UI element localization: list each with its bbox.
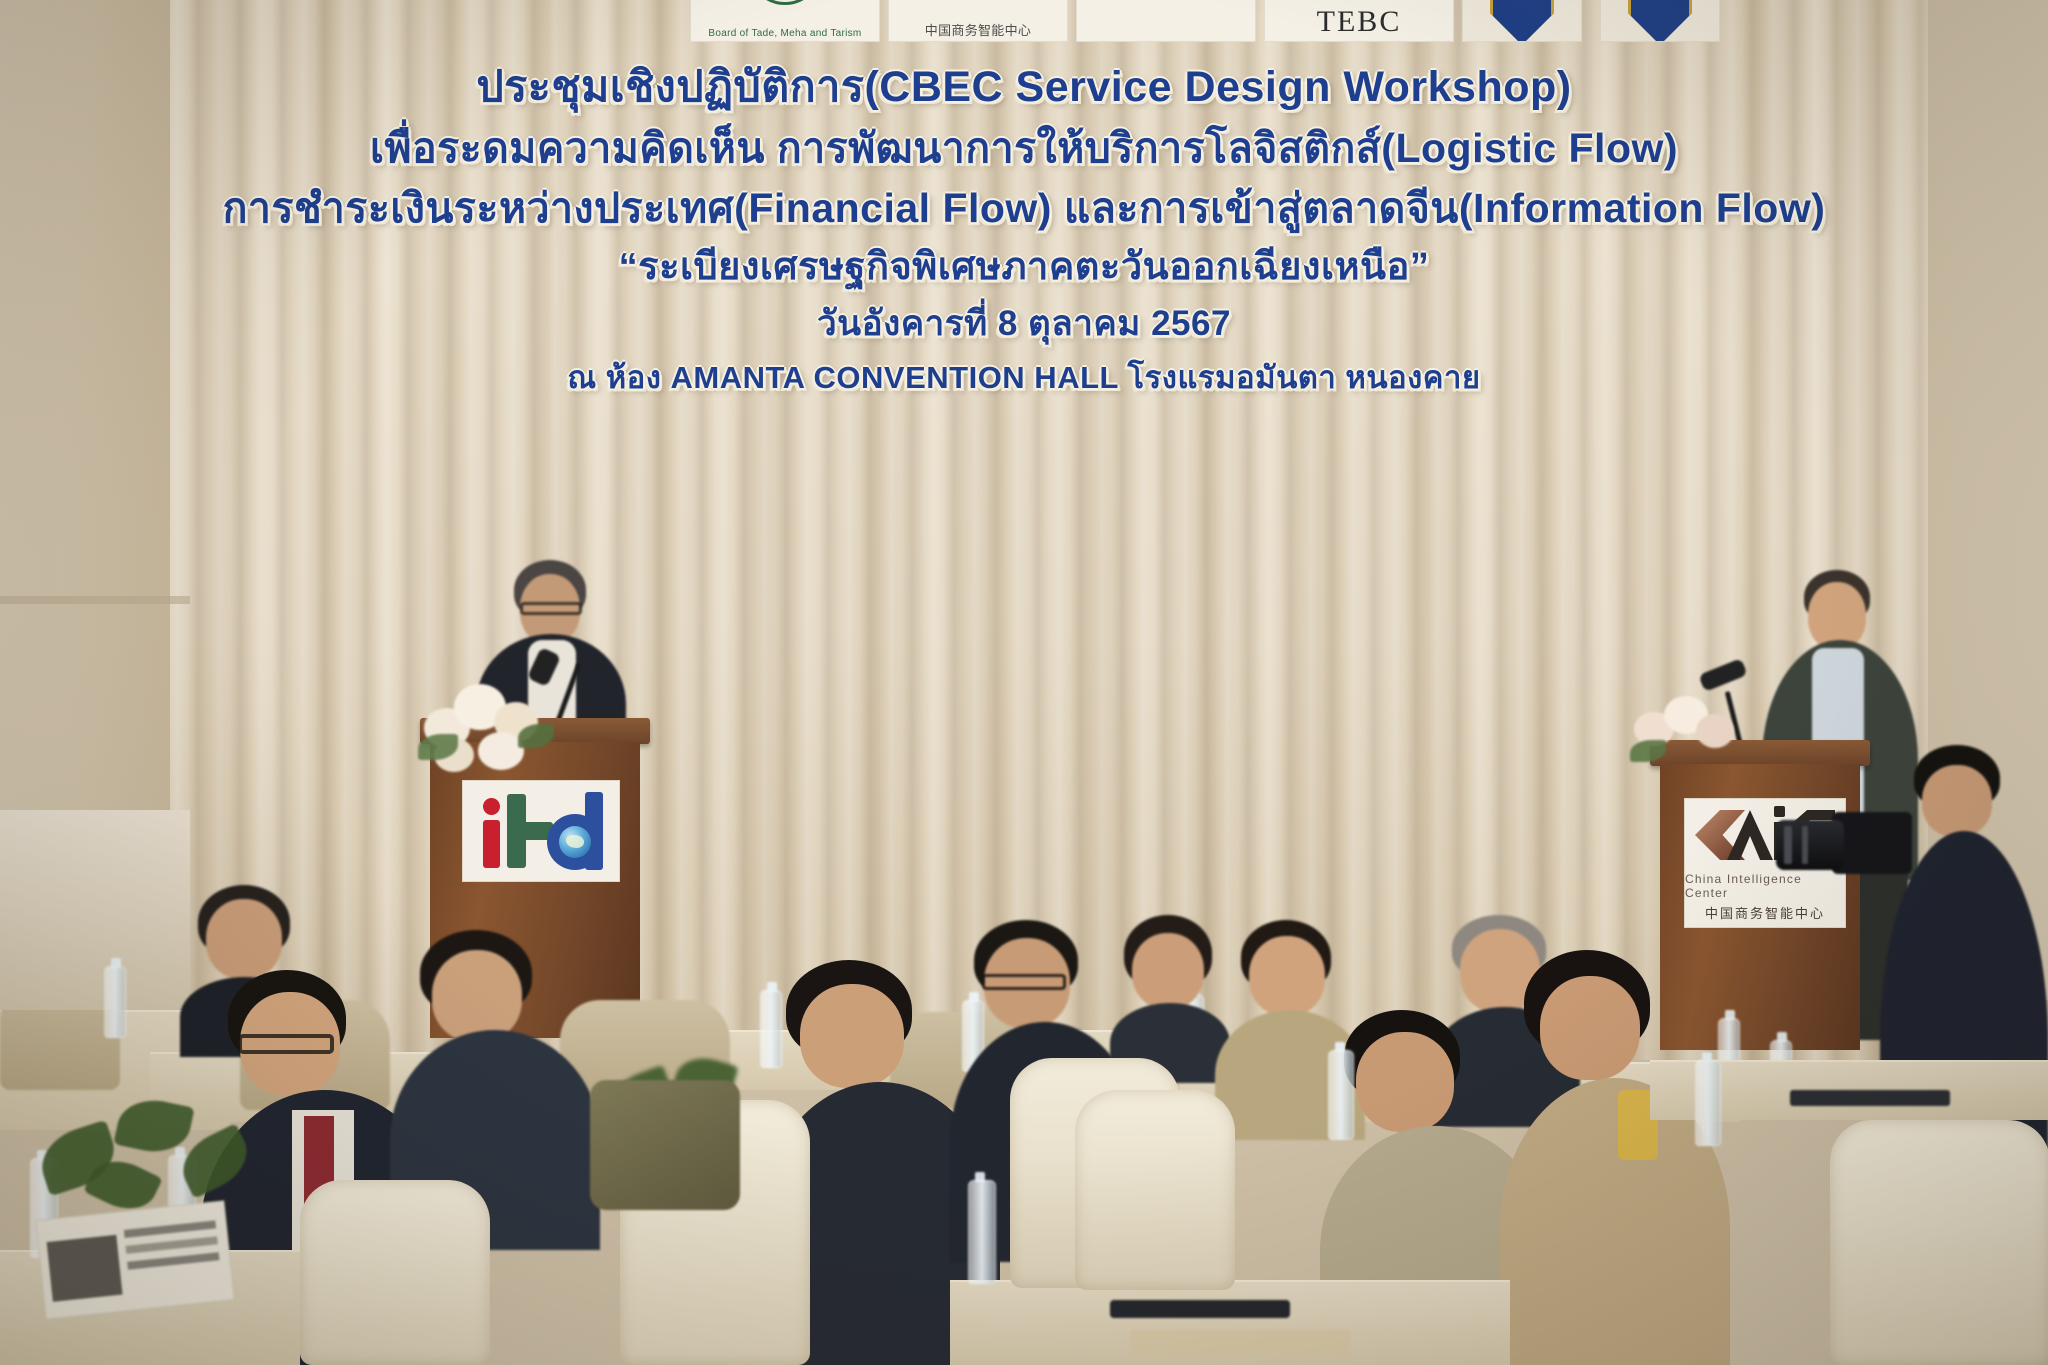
top-logo-banner-3-label: TEBC <box>1317 5 1402 39</box>
banner-line-6: ณ ห้อง AMANTA CONVENTION HALL โรงแรมอมัน… <box>0 352 2048 404</box>
backpack <box>590 1080 740 1210</box>
lens-ring <box>1784 826 1792 864</box>
top-logo-banner-2 <box>1076 0 1256 42</box>
cic-mark-i-dot <box>1774 806 1785 817</box>
chair <box>300 1180 490 1365</box>
water-bottle <box>1328 1050 1354 1140</box>
lens-ring <box>1802 826 1808 864</box>
banner-line-1: ประชุมเชิงปฏิบัติการ(CBEC Service Design… <box>0 56 2048 118</box>
globe-icon <box>559 826 591 858</box>
chair <box>1075 1090 1235 1290</box>
itd-i-stem <box>483 820 500 868</box>
banner-line-5: วันอังคารที่ 8 ตุลาคม 2567 <box>0 296 2048 352</box>
head <box>800 984 904 1088</box>
printed-document <box>35 1200 234 1319</box>
event-banner-text: ประชุมเชิงปฏิบัติการ(CBEC Service Design… <box>0 56 2048 404</box>
leaf <box>113 1093 194 1159</box>
flower-leaf <box>518 724 554 748</box>
document-line <box>124 1220 216 1238</box>
notepad <box>1790 1090 1950 1106</box>
audience-member <box>1110 915 1230 1075</box>
itd-logo <box>475 792 607 870</box>
document-line <box>127 1252 219 1270</box>
photographer-head <box>1922 765 1992 837</box>
banner-line-4: “ระเบียงเศรษฐกิจพิเศษภาคตะวันออกเฉียงเหน… <box>0 238 2048 296</box>
head <box>1356 1032 1454 1132</box>
head <box>432 950 522 1042</box>
left-flower-arrangement <box>418 672 568 782</box>
banner-line-2: เพื่อระดมความคิดเห็น การพัฒนาการให้บริกา… <box>0 118 2048 178</box>
shield-emblem-icon <box>1490 0 1554 42</box>
shield-emblem-icon <box>1628 0 1692 42</box>
chair <box>1830 1120 2048 1365</box>
itd-d-stem <box>585 792 603 870</box>
glasses-icon <box>520 602 582 615</box>
left-podium-logo-plate <box>462 780 620 882</box>
right-flower-arrangement <box>1630 690 1750 776</box>
top-logo-banner-0-label: Board of Tade, Meha and Tarism <box>708 28 861 39</box>
document-photo <box>47 1235 123 1302</box>
top-logo-banner-3: TEBC <box>1264 0 1454 42</box>
pen <box>1110 1300 1290 1318</box>
top-logo-banner-5 <box>1600 0 1720 42</box>
top-logo-banner-0: Board of Tade, Meha and Tarism <box>690 0 880 42</box>
head <box>1132 933 1204 1009</box>
head <box>206 899 282 979</box>
water-bottle <box>968 1180 996 1284</box>
head <box>1540 976 1640 1080</box>
itd-t-bar <box>507 822 553 840</box>
audience-member <box>1500 950 1730 1365</box>
itd-i-dot <box>483 798 500 815</box>
document-line <box>125 1236 217 1254</box>
flower-leaf <box>1630 740 1666 762</box>
flower-petal <box>1696 714 1734 748</box>
glasses-icon <box>238 1034 334 1054</box>
banner-line-3: การชำระเงินระหว่างประเทศ(Financial Flow)… <box>0 178 2048 238</box>
conference-photo: Board of Tade, Meha and Tarism 中国商务智能中心 … <box>0 0 2048 1365</box>
head <box>1249 936 1325 1016</box>
camera-body <box>1832 812 1912 874</box>
green-seal-icon <box>748 0 822 5</box>
cic-english-label: China Intelligence Center <box>1685 872 1845 900</box>
water-bottle <box>1695 1060 1721 1146</box>
wall-trim <box>0 596 190 604</box>
top-logo-banner-strip: Board of Tade, Meha and Tarism 中国商务智能中心 … <box>0 0 2048 42</box>
side-table-skirt <box>0 810 190 1010</box>
cic-chinese-label: 中国商务智能中心 <box>1705 903 1825 922</box>
top-logo-banner-1-label: 中国商务智能中心 <box>925 20 1031 39</box>
water-bottle <box>104 966 126 1038</box>
top-logo-banner-1: 中国商务智能中心 <box>888 0 1068 42</box>
notepad <box>1130 1330 1350 1356</box>
top-logo-banner-4 <box>1462 0 1582 42</box>
glasses-icon <box>982 974 1066 990</box>
